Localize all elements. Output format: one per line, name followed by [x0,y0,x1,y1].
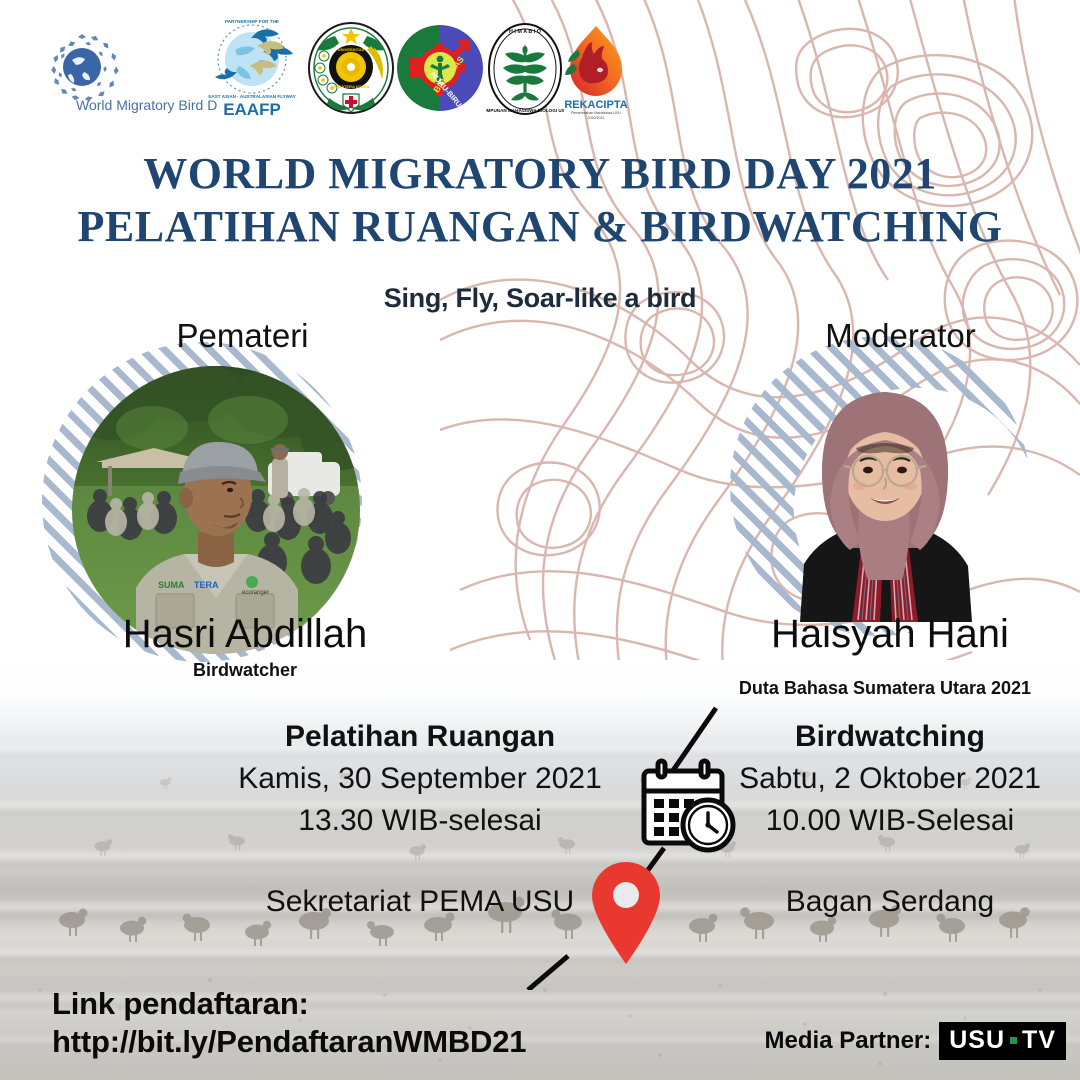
svg-text:2020/2021: 2020/2021 [588,116,605,120]
usu-tv-logo: USU TV [939,1022,1066,1060]
speaker-avatar: SUMATERA ecoranger [60,352,348,640]
biopalas-logo: BIOPALAS HIJAU-BIRU [396,24,484,112]
speaker-credit: Birdwatcher [40,660,450,681]
moderator-credit: Duta Bahasa Sumatera Utara 2021 [690,678,1080,699]
svg-text:SUMA: SUMA [158,580,185,590]
schedule-left: Pelatihan Ruangan Kamis, 30 September 20… [180,720,660,838]
svg-text:ecoranger: ecoranger [242,590,269,596]
svg-text:TERA: TERA [194,580,219,590]
svg-text:EAST ASIAN - AUSTRALASIAN FLYW: EAST ASIAN - AUSTRALASIAN FLYWAY [208,94,295,99]
world-migratory-bird-day-logo: World Migratory Bird Day [22,22,217,117]
svg-text:UNIVERSITAS: UNIVERSITAS [338,47,365,52]
schedule-left-heading: Pelatihan Ruangan [180,720,660,754]
schedule-right-venue: Bagan Serdang [700,885,1080,919]
media-partner-label: Media Partner: [765,1027,932,1055]
registration-block: Link pendaftaran: http://bit.ly/Pendafta… [52,985,526,1061]
svg-text:H I M A B I O: H I M A B I O [509,29,541,35]
registration-label: Link pendaftaran: [52,985,526,1023]
universitas-sumatera-utara-logo: UNIVERSITAS SUMATERA UTARA [305,20,397,116]
svg-text:SUMATERA UTARA: SUMATERA UTARA [332,84,369,89]
svg-text:EAAFP: EAAFP [223,100,281,118]
svg-text:Pemerintahan Mahasiswa USU: Pemerintahan Mahasiswa USU [571,111,621,115]
svg-text:REKACIPTA: REKACIPTA [564,99,627,111]
svg-text:PARTNERSHIP FOR THE: PARTNERSHIP FOR THE [225,19,279,24]
himabio-logo: H I M A B I O HIMPUNAN MAHASISWA BIOLOGI… [486,22,564,116]
map-pin-icon [586,858,666,968]
svg-text:World Migratory Bird Day: World Migratory Bird Day [76,97,217,113]
moderator-role-label: Moderator [718,317,1080,355]
schedule-right-time: 10.00 WIB-Selesai [700,804,1080,838]
partner-logo-row: World Migratory Bird Day [0,8,1080,120]
schedule-right: Birdwatching Sabtu, 2 Oktober 2021 10.00… [700,720,1080,838]
usu-tv-text-tv: TV [1022,1026,1056,1055]
moderator-avatar [760,352,1010,602]
calendar-clock-icon [636,755,741,855]
title-line-1: WORLD MIGRATORY BIRD DAY 2021 [0,150,1080,197]
eaafp-logo: PARTNERSHIP FOR THE EAST ASIAN - AUSTRAL… [205,16,300,118]
schedule-left-date: Kamis, 30 September 2021 [180,762,660,796]
speaker-name: Hasri Abdillah [40,612,450,657]
moderator-photo [760,352,1010,622]
poster-title: WORLD MIGRATORY BIRD DAY 2021 PELATIHAN … [0,150,1080,250]
usu-tv-dot-icon [1010,1037,1017,1044]
schedule-left-time: 13.30 WIB-selesai [180,804,660,838]
schedule-right-date: Sabtu, 2 Oktober 2021 [700,762,1080,796]
poster-subtitle: Sing, Fly, Soar-like a bird [0,283,1080,314]
title-line-2: PELATIHAN RUANGAN & BIRDWATCHING [0,203,1080,250]
rekacipta-logo: REKACIPTA Pemerintahan Mahasiswa USU 202… [556,24,636,120]
registration-url[interactable]: http://bit.ly/PendaftaranWMBD21 [52,1023,526,1061]
poster-canvas: World Migratory Bird Day [0,0,1080,1080]
media-partner-block: Media Partner: USU TV [765,1022,1066,1060]
schedule-right-heading: Birdwatching [700,720,1080,754]
speaker-photo: SUMATERA ecoranger [72,366,360,654]
usu-tv-text-usu: USU [949,1026,1005,1055]
moderator-name: Haisyah Hani [700,612,1080,657]
svg-text:HIMPUNAN MAHASISWA BIOLOGI USU: HIMPUNAN MAHASISWA BIOLOGI USU [486,108,564,113]
speaker-role-label: Pemateri [60,317,425,355]
